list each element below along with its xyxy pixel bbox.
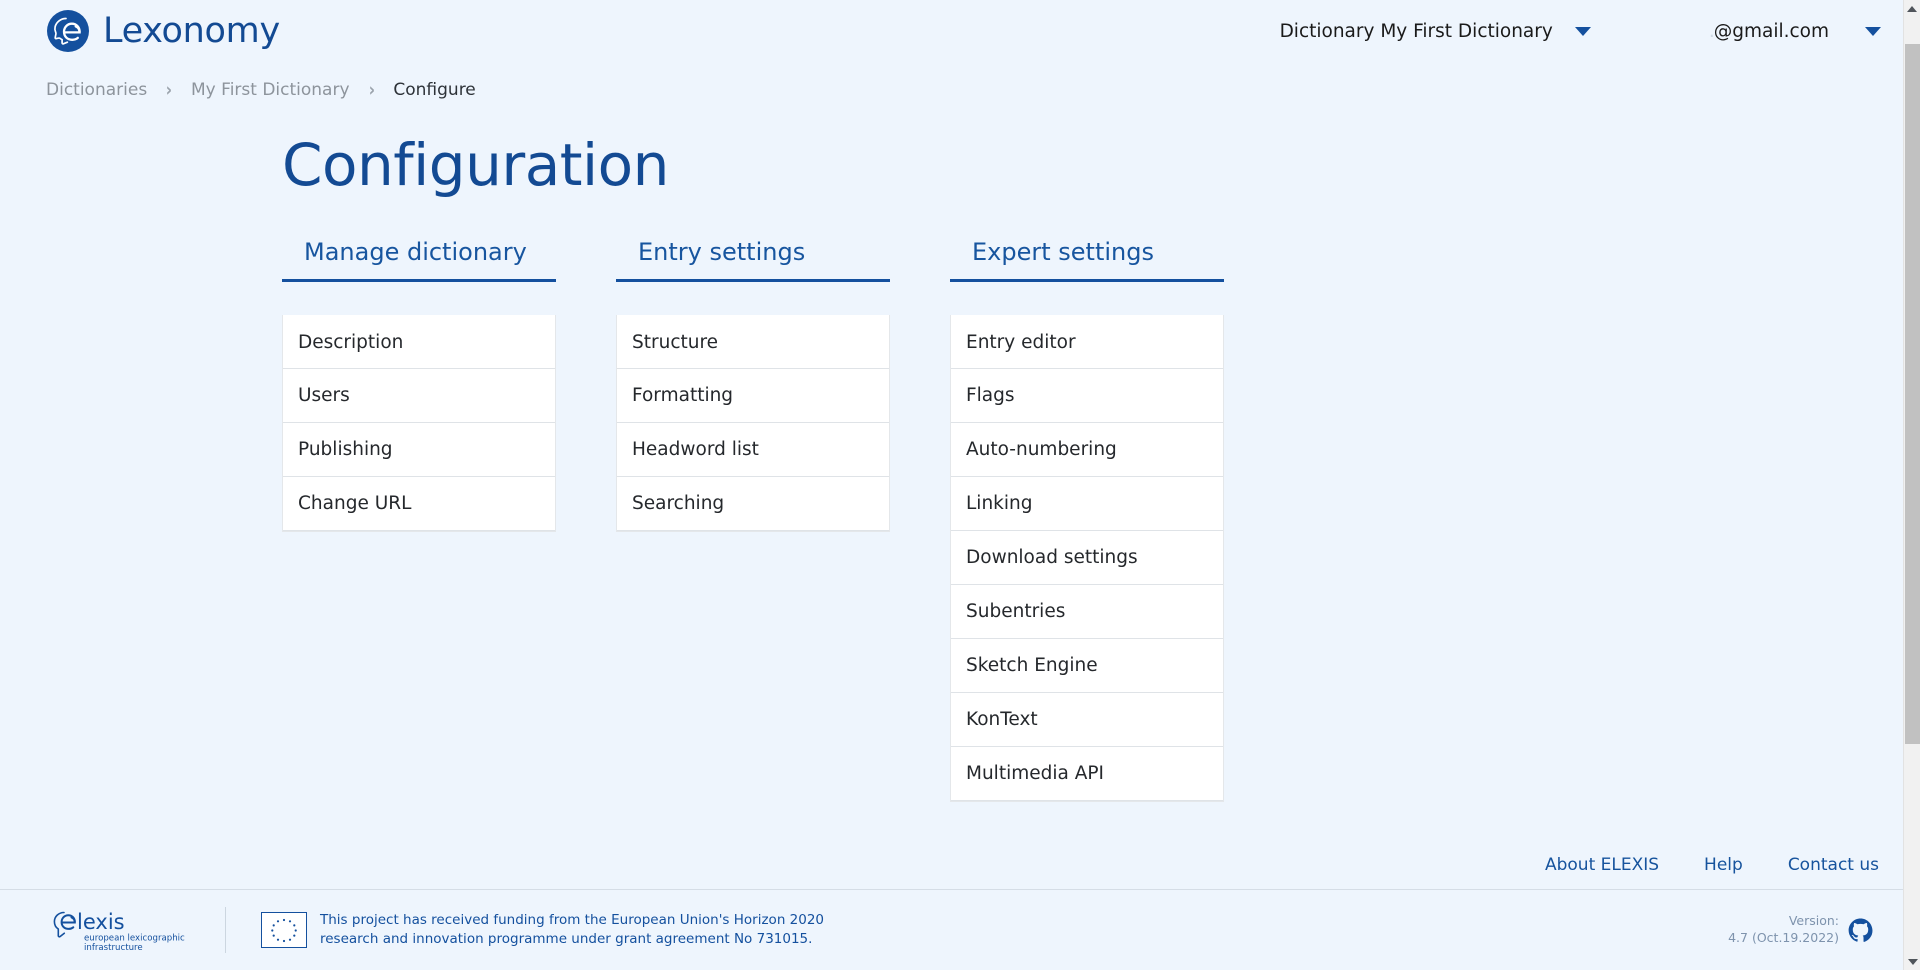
config-item-download-settings[interactable]: Download settings [951,531,1223,585]
config-item-linking[interactable]: Linking [951,477,1223,531]
config-item-entry-editor[interactable]: Entry editor [951,315,1223,369]
bottom-bar: lexis european lexicographic infrastruct… [0,889,1903,970]
card-entry-settings: Structure Formatting Headword list Searc… [616,315,890,532]
version-value: 4.7 (Oct.19.2022) [1728,930,1839,947]
brand-name: Lexonomy [103,14,280,49]
config-item-sketch-engine[interactable]: Sketch Engine [951,639,1223,693]
user-email: @gmail.com [1714,21,1829,42]
card-manage-dictionary: Description Users Publishing Change URL [282,315,556,532]
eu-funding-block: This project has received funding from t… [225,907,824,953]
brand-logo[interactable]: Lexonomy [46,9,280,53]
breadcrumb: Dictionaries › My First Dictionary › Con… [0,62,1903,110]
footer-link-help[interactable]: Help [1704,855,1743,875]
breadcrumb-item-my-first-dictionary[interactable]: My First Dictionary [191,80,350,100]
config-item-kontext[interactable]: KonText [951,693,1223,747]
footer-links: About ELEXIS Help Contact us [1545,855,1879,875]
header-right-controls: Dictionary My First Dictionary . @gmail.… [1280,21,1903,42]
dictionary-selector[interactable]: Dictionary My First Dictionary [1280,21,1591,42]
page-scrollbar[interactable] [1903,0,1920,970]
config-item-flags[interactable]: Flags [951,369,1223,423]
eu-flag-icon [261,912,307,948]
scrollbar-thumb[interactable] [1905,44,1920,744]
chevron-down-icon [1575,27,1591,36]
scroll-down-arrow-icon[interactable] [1904,953,1920,970]
user-menu[interactable]: . @gmail.com [1709,21,1881,42]
config-item-structure[interactable]: Structure [617,315,889,369]
config-item-change-url[interactable]: Change URL [283,477,555,531]
config-item-description[interactable]: Description [283,315,555,369]
elexis-logo-icon: lexis european lexicographic infrastruct… [52,906,192,954]
github-icon[interactable] [1848,918,1873,943]
breadcrumb-separator: › [166,81,172,100]
svg-text:lexis: lexis [77,910,125,934]
scroll-up-arrow-icon[interactable] [1904,0,1920,17]
config-item-subentries[interactable]: Subentries [951,585,1223,639]
column-heading-entry-settings: Entry settings [616,239,890,283]
config-item-multimedia-api[interactable]: Multimedia API [951,747,1223,801]
config-item-auto-numbering[interactable]: Auto-numbering [951,423,1223,477]
lexonomy-head-e-logo-icon [46,9,90,53]
footer-link-about-elexis[interactable]: About ELEXIS [1545,855,1659,875]
main-content: Configuration Manage dictionary Descript… [0,110,1903,889]
version-block: Version: 4.7 (Oct.19.2022) [1728,913,1881,947]
breadcrumb-item-configure: Configure [393,80,475,100]
page-viewport: Lexonomy Dictionary My First Dictionary … [0,0,1903,970]
dictionary-selector-label: Dictionary My First Dictionary [1280,21,1553,42]
app-header: Lexonomy Dictionary My First Dictionary … [0,0,1903,62]
config-item-searching[interactable]: Searching [617,477,889,531]
column-heading-manage-dictionary: Manage dictionary [282,239,556,283]
card-expert-settings: Entry editor Flags Auto-numbering Linkin… [950,315,1224,802]
breadcrumb-separator: › [368,81,374,100]
eu-funding-text-line1: This project has received funding from t… [320,911,824,930]
svg-text:european lexicographic: european lexicographic [84,934,185,944]
config-item-headword-list[interactable]: Headword list [617,423,889,477]
svg-text:infrastructure: infrastructure [84,943,143,953]
page-title: Configuration [282,134,1903,198]
column-expert-settings: Expert settings Entry editor Flags Auto-… [950,239,1224,803]
version-text: Version: 4.7 (Oct.19.2022) [1728,913,1839,947]
eu-funding-text: This project has received funding from t… [320,911,824,949]
column-entry-settings: Entry settings Structure Formatting Head… [616,239,890,533]
elexis-logo[interactable]: lexis european lexicographic infrastruct… [52,906,192,954]
column-manage-dictionary: Manage dictionary Description Users Publ… [282,239,556,533]
config-item-formatting[interactable]: Formatting [617,369,889,423]
version-label: Version: [1728,913,1839,930]
config-item-publishing[interactable]: Publishing [283,423,555,477]
breadcrumb-item-dictionaries[interactable]: Dictionaries [46,80,147,100]
column-heading-expert-settings: Expert settings [950,239,1224,283]
chevron-down-icon [1865,27,1881,36]
eu-funding-text-line2: research and innovation programme under … [320,930,824,949]
config-item-users[interactable]: Users [283,369,555,423]
configuration-columns: Manage dictionary Description Users Publ… [282,239,1903,803]
footer-link-contact-us[interactable]: Contact us [1788,855,1879,875]
